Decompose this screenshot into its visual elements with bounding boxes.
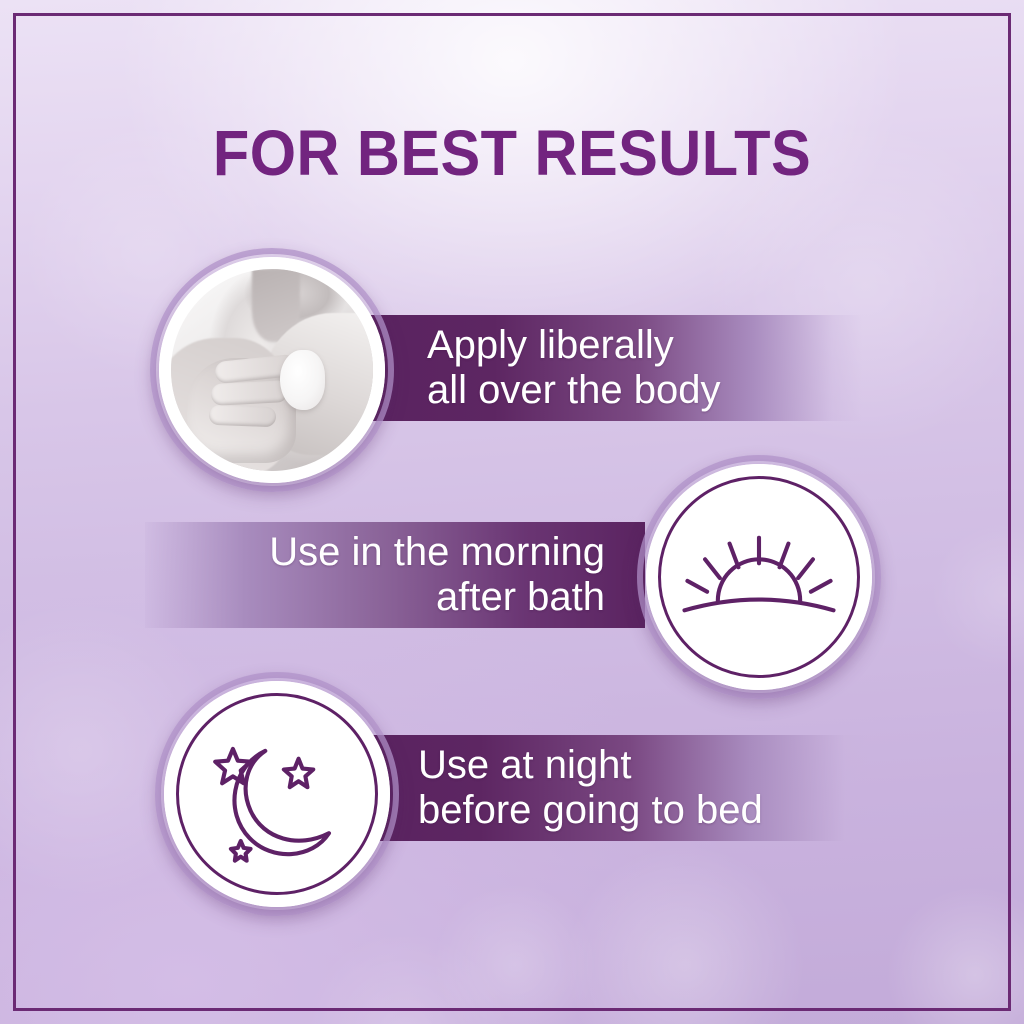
- step-3-line-1: Use at night: [418, 743, 631, 788]
- step-3-line-2: before going to bed: [418, 788, 763, 833]
- step-1-line-2: all over the body: [427, 368, 721, 413]
- step-1-icon-circle: [150, 248, 394, 492]
- photo-finger: [209, 405, 276, 428]
- crescent-moon-stars-icon: [176, 693, 378, 895]
- photo-finger: [211, 380, 289, 406]
- step-2-icon-circle: [637, 455, 881, 699]
- page-title: FOR BEST RESULTS: [36, 116, 988, 190]
- background-bokeh-circle: [880, 880, 1024, 1024]
- step-2-line-1: Use in the morning: [269, 530, 605, 575]
- background-bokeh-circle: [930, 520, 1024, 670]
- photo-body-applying-cream: [171, 269, 373, 471]
- photo-cream-dollop: [280, 350, 324, 411]
- for-best-results-poster: FOR BEST RESULTS Apply liberally all ove…: [0, 0, 1024, 1024]
- step-2-line-2: after bath: [436, 575, 605, 620]
- background-bokeh-circle: [560, 840, 810, 1024]
- background-bokeh-circle: [430, 880, 600, 1024]
- step-2-text-band: Use in the morning after bath: [145, 522, 645, 628]
- step-3-icon-circle: [155, 672, 399, 916]
- sunrise-icon: [658, 476, 860, 678]
- step-1-line-1: Apply liberally: [427, 323, 674, 368]
- step-3-text-band: Use at night before going to bed: [370, 735, 870, 841]
- background-bokeh-circle: [300, 930, 510, 1024]
- cream-application-photo-icon: [171, 269, 373, 471]
- step-1-text-band: Apply liberally all over the body: [365, 315, 862, 421]
